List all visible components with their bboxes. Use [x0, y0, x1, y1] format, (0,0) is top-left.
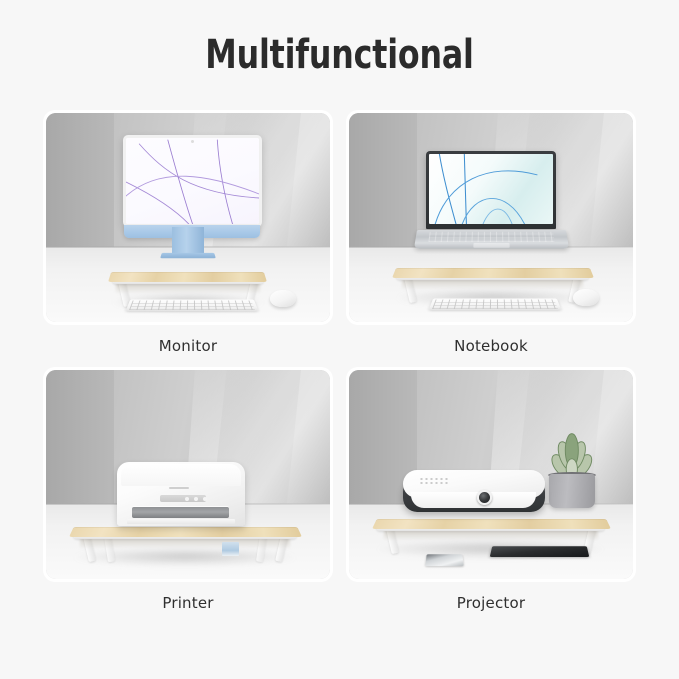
- product-infographic: Multifunctional: [0, 0, 679, 679]
- scene-notebook: [349, 113, 633, 322]
- mouse: [270, 290, 296, 307]
- projector-lens: [477, 490, 492, 505]
- riser-wood-top: [392, 268, 594, 278]
- printer-output-tray: [127, 519, 234, 524]
- keyboard-keys: [433, 299, 558, 309]
- printer-logo: [169, 487, 188, 489]
- panel-caption-printer: Printer: [43, 594, 333, 612]
- printer-button-1: [185, 497, 189, 501]
- keyboard: [429, 298, 562, 310]
- panel-monitor[interactable]: [43, 110, 333, 325]
- panel-caption-notebook: Notebook: [346, 337, 636, 355]
- mouse: [573, 289, 599, 306]
- projector-front-lip: [411, 492, 536, 508]
- projector-vents: [419, 477, 450, 485]
- keyboard-keys: [130, 300, 255, 310]
- imac-stand-neck: [172, 227, 203, 253]
- panel-caption-monitor: Monitor: [43, 337, 333, 355]
- imac-wallpaper-curves-svg: [126, 138, 259, 224]
- page-title: Multifunctional: [41, 30, 639, 80]
- riser-wood-top: [372, 519, 611, 529]
- panel-notebook[interactable]: [346, 110, 636, 325]
- keyboard: [126, 299, 259, 311]
- wall-corner: [349, 113, 417, 255]
- panel-cell-notebook: Notebook: [346, 110, 636, 355]
- riser-underside: [384, 530, 599, 540]
- panel-caption-projector: Projector: [346, 594, 636, 612]
- laptop-keyboard: [428, 232, 553, 242]
- riser-wood-top: [108, 272, 267, 282]
- printer-control-panel: [160, 495, 206, 502]
- scene-projector: [349, 370, 633, 579]
- imac-camera: [191, 140, 194, 143]
- laptop: [426, 151, 557, 250]
- laptop-base: [413, 230, 568, 249]
- smartphone: [425, 554, 463, 566]
- projector: [403, 470, 545, 512]
- laptop-trackpad: [472, 243, 509, 248]
- panel-printer[interactable]: [43, 367, 333, 582]
- panel-projector[interactable]: [346, 367, 636, 582]
- under-shelf-item: [222, 542, 239, 556]
- tablet: [490, 546, 589, 557]
- riser-underside: [80, 538, 290, 548]
- printer-paper-slot: [132, 507, 229, 518]
- scene-printer: [46, 370, 330, 579]
- riser-wood-top: [69, 527, 302, 537]
- printer-top-cover: [121, 464, 241, 486]
- plant-pot: [549, 474, 594, 508]
- panel-grid: Monitor: [43, 110, 636, 612]
- laptop-wallpaper-curves-svg: [429, 154, 554, 224]
- imac-monitor: [123, 135, 262, 227]
- wall-corner: [46, 113, 114, 255]
- panel-cell-printer: Printer: [43, 367, 333, 612]
- printer: [117, 462, 245, 526]
- riser-underside: [116, 283, 259, 293]
- panel-cell-monitor: Monitor: [43, 110, 333, 355]
- page-title-wrap: Multifunctional: [0, 30, 679, 80]
- panel-cell-projector: Projector: [346, 367, 636, 612]
- printer-button-3: [203, 497, 207, 501]
- imac-stand-foot: [160, 253, 216, 258]
- scene-monitor: [46, 113, 330, 322]
- laptop-screen: [429, 154, 554, 224]
- imac-screen: [123, 135, 262, 227]
- wall-corner: [46, 370, 114, 512]
- riser-underside: [402, 279, 583, 289]
- printer-button-2: [194, 497, 198, 501]
- laptop-lid: [426, 151, 557, 229]
